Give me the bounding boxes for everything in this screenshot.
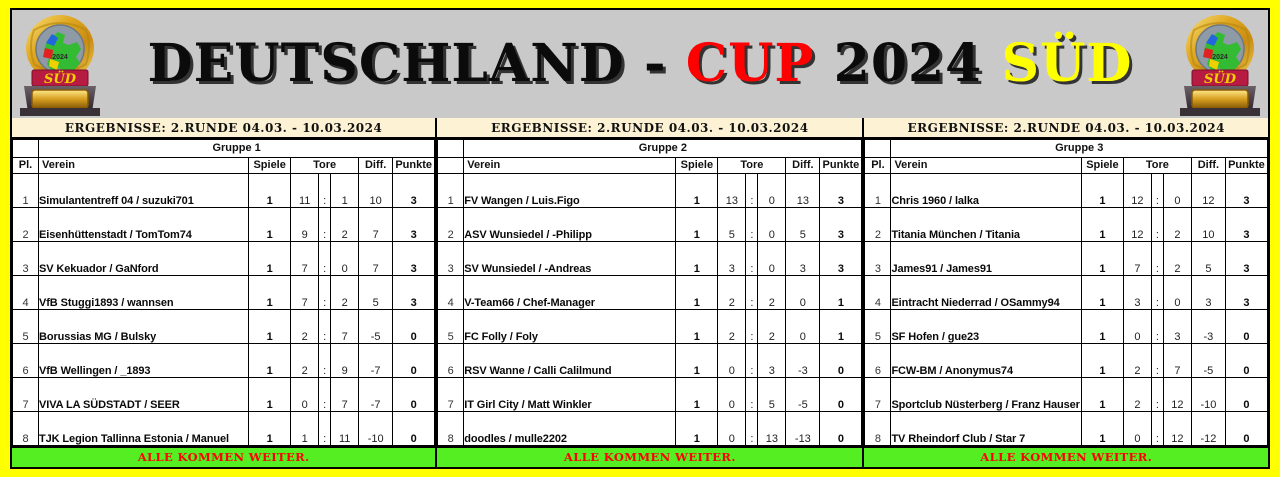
title-dash: - <box>644 33 667 94</box>
cell-goals-for: 2 <box>1123 377 1151 411</box>
cell-spiele: 1 <box>249 411 291 445</box>
cell-pl: 6 <box>865 343 891 377</box>
cell-team: SF Hofen / gue23 <box>891 309 1081 343</box>
header-diff-2: Diff. <box>786 157 820 173</box>
tournament-frame: 2024 SÜD DEUTSCHLAND - CUP 2024 SÜD <box>10 8 1270 469</box>
cell-pl: 5 <box>438 309 464 343</box>
cell-pl: 8 <box>865 411 891 445</box>
results-date-line-2: ERGEBNISSE: 2.RUNDE 04.03. - 10.03.2024 <box>437 118 862 139</box>
cell-goals-for: 12 <box>1123 207 1151 241</box>
cell-diff: 10 <box>359 173 393 207</box>
cell-spiele: 1 <box>249 377 291 411</box>
cell-punkte: 3 <box>1225 275 1267 309</box>
results-date-line-3: ERGEBNISSE: 2.RUNDE 04.03. - 10.03.2024 <box>864 118 1268 139</box>
cell-pl: 6 <box>13 343 39 377</box>
cell-score-separator: : <box>319 343 331 377</box>
group-title-spacer <box>13 140 39 158</box>
trophy-band-text: SÜD <box>44 70 77 87</box>
cell-pl: 6 <box>438 343 464 377</box>
cell-punkte: 0 <box>820 343 862 377</box>
trophy-icon-right: 2024 SÜD <box>1174 12 1266 116</box>
cell-pl: 7 <box>13 377 39 411</box>
cell-pl: 5 <box>865 309 891 343</box>
cell-goals-against: 2 <box>1163 207 1191 241</box>
group-column-2: ERGEBNISSE: 2.RUNDE 04.03. - 10.03.2024 … <box>437 118 864 467</box>
cell-score-separator: : <box>319 241 331 275</box>
cell-spiele: 1 <box>1081 241 1123 275</box>
cell-team: Eisenhüttenstadt / TomTom74 <box>39 207 249 241</box>
cell-team: ASV Wunsiedel / -Philipp <box>464 207 676 241</box>
cell-pl: 8 <box>13 411 39 445</box>
cell-diff: -12 <box>1191 411 1225 445</box>
cell-punkte: 0 <box>1225 377 1267 411</box>
table-row[interactable]: 8 TV Rheindorf Club / Star 7 1 0 : 12 -1… <box>865 411 1268 445</box>
table-row[interactable]: 8 TJK Legion Tallinna Estonia / Manuel 1… <box>13 411 435 445</box>
cell-spiele: 1 <box>1081 377 1123 411</box>
cell-score-separator: : <box>1151 275 1163 309</box>
trophy-icon-left: 2024 SÜD <box>14 12 106 116</box>
cell-score-separator: : <box>319 411 331 445</box>
cell-goals-for: 2 <box>291 309 319 343</box>
cell-team: VfB Wellingen / _1893 <box>39 343 249 377</box>
cell-punkte: 3 <box>393 173 435 207</box>
cell-goals-for: 3 <box>1123 275 1151 309</box>
cell-team: IT Girl City / Matt Winkler <box>464 377 676 411</box>
cell-goals-against: 3 <box>758 343 786 377</box>
cell-pl: 2 <box>438 207 464 241</box>
group-name-1: Gruppe 1 <box>39 140 435 158</box>
title-part-deutschland: DEUTSCHLAND <box>148 33 625 94</box>
cell-diff: -3 <box>786 343 820 377</box>
cell-punkte: 3 <box>820 207 862 241</box>
group-column-1: ERGEBNISSE: 2.RUNDE 04.03. - 10.03.2024 … <box>12 118 437 467</box>
cell-team: Simulantentreff 04 / suzuki701 <box>39 173 249 207</box>
cell-goals-against: 7 <box>1163 343 1191 377</box>
cell-goals-for: 2 <box>718 309 746 343</box>
cell-score-separator: : <box>746 173 758 207</box>
standings-table-2: Gruppe 2 Verein Spiele Tore Diff. Punkte… <box>437 139 862 446</box>
cell-team: VIVA LA SÜDSTADT / SEER <box>39 377 249 411</box>
cell-spiele: 1 <box>249 207 291 241</box>
header-pl-3: Pl. <box>865 157 891 173</box>
table-row[interactable]: 3 SV Kekuador / GaNford 1 7 : 0 7 3 <box>13 241 435 275</box>
cell-goals-for: 9 <box>291 207 319 241</box>
trophy-year-text: 2024 <box>52 54 68 61</box>
cell-score-separator: : <box>746 275 758 309</box>
group-name-2: Gruppe 2 <box>464 140 862 158</box>
table-row[interactable]: 7 IT Girl City / Matt Winkler 1 0 : 5 -5… <box>438 377 862 411</box>
table-row[interactable]: 4 V-Team66 / Chef-Manager 1 2 : 2 0 1 <box>438 275 862 309</box>
cell-diff: 5 <box>359 275 393 309</box>
cell-goals-against: 0 <box>758 173 786 207</box>
cell-goals-against: 0 <box>331 241 359 275</box>
cell-diff: -10 <box>359 411 393 445</box>
group-title-row: Gruppe 2 <box>438 140 862 158</box>
cell-team: RSV Wanne / Calli Calilmund <box>464 343 676 377</box>
cell-pl: 4 <box>13 275 39 309</box>
cell-punkte: 0 <box>820 377 862 411</box>
cell-goals-for: 1 <box>291 411 319 445</box>
table-row[interactable]: 7 VIVA LA SÜDSTADT / SEER 1 0 : 7 -7 0 <box>13 377 435 411</box>
cell-goals-against: 2 <box>758 309 786 343</box>
cell-score-separator: : <box>319 173 331 207</box>
cell-goals-for: 7 <box>291 275 319 309</box>
cell-punkte: 0 <box>820 411 862 445</box>
cell-spiele: 1 <box>676 309 718 343</box>
page-title: DEUTSCHLAND - CUP 2024 SÜD <box>148 38 1133 90</box>
group-title-row: Gruppe 1 <box>13 140 435 158</box>
cell-goals-against: 0 <box>1163 275 1191 309</box>
cell-punkte: 0 <box>393 309 435 343</box>
cell-punkte: 3 <box>1225 173 1267 207</box>
title-banner: 2024 SÜD DEUTSCHLAND - CUP 2024 SÜD <box>12 10 1268 118</box>
cell-goals-against: 11 <box>331 411 359 445</box>
cell-score-separator: : <box>319 207 331 241</box>
cell-goals-against: 2 <box>331 207 359 241</box>
cell-goals-for: 12 <box>1123 173 1151 207</box>
column-header-row: Pl. Verein Spiele Tore Diff. Punkte <box>865 157 1268 173</box>
cell-spiele: 1 <box>249 275 291 309</box>
group-title-row: Gruppe 3 <box>865 140 1268 158</box>
cell-goals-for: 2 <box>291 343 319 377</box>
cell-diff: 3 <box>786 241 820 275</box>
cell-pl: 2 <box>13 207 39 241</box>
group-footer-2: ALLE KOMMEN WEITER. <box>437 446 862 467</box>
cell-pl: 3 <box>865 241 891 275</box>
cell-spiele: 1 <box>676 343 718 377</box>
header-spiele-2: Spiele <box>676 157 718 173</box>
cell-spiele: 1 <box>249 241 291 275</box>
cell-punkte: 3 <box>1225 207 1267 241</box>
cell-diff: 5 <box>786 207 820 241</box>
cell-punkte: 0 <box>393 377 435 411</box>
cell-punkte: 0 <box>393 343 435 377</box>
cell-goals-for: 0 <box>291 377 319 411</box>
cell-punkte: 0 <box>393 411 435 445</box>
title-part-sued: SÜD <box>1001 33 1132 94</box>
cell-spiele: 1 <box>676 377 718 411</box>
cell-diff: -3 <box>1191 309 1225 343</box>
cell-score-separator: : <box>319 309 331 343</box>
cell-team: VfB Stuggi1893 / wannsen <box>39 275 249 309</box>
cell-score-separator: : <box>1151 377 1163 411</box>
page-root: 2024 SÜD DEUTSCHLAND - CUP 2024 SÜD <box>0 0 1280 477</box>
header-pl-2 <box>438 157 464 173</box>
cell-diff: 3 <box>1191 275 1225 309</box>
cell-spiele: 1 <box>1081 411 1123 445</box>
table-row[interactable]: 1 FV Wangen / Luis.Figo 1 13 : 0 13 3 <box>438 173 862 207</box>
cell-diff: 0 <box>786 309 820 343</box>
cell-diff: 5 <box>1191 241 1225 275</box>
table-row[interactable]: 4 VfB Stuggi1893 / wannsen 1 7 : 2 5 3 <box>13 275 435 309</box>
table-row[interactable]: 1 Chris 1960 / lalka 1 12 : 0 12 3 <box>865 173 1268 207</box>
table-row[interactable]: 5 SF Hofen / gue23 1 0 : 3 -3 0 <box>865 309 1268 343</box>
cell-goals-against: 1 <box>331 173 359 207</box>
table-row[interactable]: 5 Borussias MG / Bulsky 1 2 : 7 -5 0 <box>13 309 435 343</box>
cell-pl: 5 <box>13 309 39 343</box>
cell-pl: 7 <box>865 377 891 411</box>
cell-team: James91 / James91 <box>891 241 1081 275</box>
cell-score-separator: : <box>1151 309 1163 343</box>
cell-punkte: 3 <box>393 241 435 275</box>
cell-punkte: 0 <box>1225 343 1267 377</box>
cell-team: Borussias MG / Bulsky <box>39 309 249 343</box>
cell-punkte: 3 <box>393 207 435 241</box>
cell-pl: 3 <box>13 241 39 275</box>
trophy-year-text: 2024 <box>1212 54 1228 61</box>
cell-goals-for: 5 <box>718 207 746 241</box>
cell-goals-against: 2 <box>331 275 359 309</box>
cell-pl: 1 <box>865 173 891 207</box>
cell-spiele: 1 <box>676 207 718 241</box>
cell-goals-against: 2 <box>1163 241 1191 275</box>
group-title-spacer <box>865 140 891 158</box>
cell-pl: 2 <box>865 207 891 241</box>
table-row[interactable]: 5 FC Folly / Foly 1 2 : 2 0 1 <box>438 309 862 343</box>
cell-score-separator: : <box>746 377 758 411</box>
cell-team: Chris 1960 / lalka <box>891 173 1081 207</box>
cell-goals-against: 0 <box>1163 173 1191 207</box>
cell-goals-against: 9 <box>331 343 359 377</box>
header-tore-1: Tore <box>291 157 359 173</box>
cell-score-separator: : <box>1151 343 1163 377</box>
cell-spiele: 1 <box>676 241 718 275</box>
cell-pl: 4 <box>438 275 464 309</box>
cell-pl: 4 <box>865 275 891 309</box>
table-row[interactable]: 3 SV Wunsiedel / -Andreas 1 3 : 0 3 3 <box>438 241 862 275</box>
table-row[interactable]: 6 RSV Wanne / Calli Calilmund 1 0 : 3 -3… <box>438 343 862 377</box>
table-row[interactable]: 8 doodles / mulle2202 1 0 : 13 -13 0 <box>438 411 862 445</box>
cell-goals-against: 0 <box>758 207 786 241</box>
cell-score-separator: : <box>746 207 758 241</box>
cell-goals-for: 11 <box>291 173 319 207</box>
cell-punkte: 3 <box>1225 241 1267 275</box>
cell-goals-for: 0 <box>718 411 746 445</box>
cell-spiele: 1 <box>249 343 291 377</box>
header-tore-3: Tore <box>1123 157 1191 173</box>
results-date-line-1: ERGEBNISSE: 2.RUNDE 04.03. - 10.03.2024 <box>12 118 435 139</box>
cell-punkte: 3 <box>820 241 862 275</box>
cell-score-separator: : <box>1151 241 1163 275</box>
cell-punkte: 0 <box>1225 309 1267 343</box>
cell-goals-against: 12 <box>1163 411 1191 445</box>
cell-team: Eintracht Niederrad / OSammy94 <box>891 275 1081 309</box>
header-diff-3: Diff. <box>1191 157 1225 173</box>
header-punkte-3: Punkte <box>1225 157 1267 173</box>
groups-container: ERGEBNISSE: 2.RUNDE 04.03. - 10.03.2024 … <box>12 118 1268 467</box>
cell-diff: -7 <box>359 377 393 411</box>
group-footer-1: ALLE KOMMEN WEITER. <box>12 446 435 467</box>
header-tore-2: Tore <box>718 157 786 173</box>
group-column-3: ERGEBNISSE: 2.RUNDE 04.03. - 10.03.2024 … <box>864 118 1268 467</box>
table-row[interactable]: 6 FCW-BM / Anonymus74 1 2 : 7 -5 0 <box>865 343 1268 377</box>
cell-goals-for: 13 <box>718 173 746 207</box>
table-row[interactable]: 2 Titania München / Titania 1 12 : 2 10 … <box>865 207 1268 241</box>
header-diff-1: Diff. <box>359 157 393 173</box>
cell-spiele: 1 <box>1081 275 1123 309</box>
cell-score-separator: : <box>746 343 758 377</box>
header-punkte-1: Punkte <box>393 157 435 173</box>
cell-team: SV Wunsiedel / -Andreas <box>464 241 676 275</box>
cell-score-separator: : <box>319 275 331 309</box>
cell-goals-against: 7 <box>331 377 359 411</box>
header-punkte-2: Punkte <box>820 157 862 173</box>
cell-diff: 7 <box>359 207 393 241</box>
standings-table-1: Gruppe 1 Pl. Verein Spiele Tore Diff. Pu… <box>12 139 435 446</box>
column-header-row: Verein Spiele Tore Diff. Punkte <box>438 157 862 173</box>
cell-spiele: 1 <box>676 173 718 207</box>
cell-team: TV Rheindorf Club / Star 7 <box>891 411 1081 445</box>
cell-score-separator: : <box>1151 173 1163 207</box>
cell-goals-for: 0 <box>718 343 746 377</box>
cell-goals-for: 2 <box>1123 343 1151 377</box>
cell-diff: -7 <box>359 343 393 377</box>
cell-goals-for: 2 <box>718 275 746 309</box>
table-row[interactable]: 2 Eisenhüttenstadt / TomTom74 1 9 : 2 7 … <box>13 207 435 241</box>
standings-table-3: Gruppe 3 Pl. Verein Spiele Tore Diff. Pu… <box>864 139 1268 446</box>
cell-punkte: 1 <box>820 275 862 309</box>
cell-goals-for: 7 <box>1123 241 1151 275</box>
cell-goals-for: 0 <box>718 377 746 411</box>
cell-spiele: 1 <box>676 411 718 445</box>
header-pl-1: Pl. <box>13 157 39 173</box>
column-header-row: Pl. Verein Spiele Tore Diff. Punkte <box>13 157 435 173</box>
cell-diff: 10 <box>1191 207 1225 241</box>
cell-spiele: 1 <box>249 173 291 207</box>
cell-team: FC Folly / Foly <box>464 309 676 343</box>
cell-punkte: 3 <box>393 275 435 309</box>
cell-goals-against: 13 <box>758 411 786 445</box>
cell-team: TJK Legion Tallinna Estonia / Manuel <box>39 411 249 445</box>
title-part-cup: CUP <box>686 33 815 94</box>
cell-diff: 12 <box>1191 173 1225 207</box>
cell-goals-for: 7 <box>291 241 319 275</box>
cell-score-separator: : <box>746 309 758 343</box>
table-row[interactable]: 1 Simulantentreff 04 / suzuki701 1 11 : … <box>13 173 435 207</box>
cell-diff: 0 <box>786 275 820 309</box>
cell-punkte: 0 <box>1225 411 1267 445</box>
header-verein-1: Verein <box>39 157 249 173</box>
cell-spiele: 1 <box>1081 173 1123 207</box>
cell-spiele: 1 <box>1081 343 1123 377</box>
cell-goals-against: 5 <box>758 377 786 411</box>
cell-diff: -5 <box>786 377 820 411</box>
cell-pl: 3 <box>438 241 464 275</box>
cell-team: FV Wangen / Luis.Figo <box>464 173 676 207</box>
table-row[interactable]: 2 ASV Wunsiedel / -Philipp 1 5 : 0 5 3 <box>438 207 862 241</box>
group-title-spacer <box>438 140 464 158</box>
cell-diff: -13 <box>786 411 820 445</box>
cell-diff: 13 <box>786 173 820 207</box>
table-row[interactable]: 3 James91 / James91 1 7 : 2 5 3 <box>865 241 1268 275</box>
cell-pl: 8 <box>438 411 464 445</box>
cell-team: Titania München / Titania <box>891 207 1081 241</box>
cell-team: doodles / mulle2202 <box>464 411 676 445</box>
header-verein-2: Verein <box>464 157 676 173</box>
cell-goals-against: 0 <box>758 241 786 275</box>
cell-team: SV Kekuador / GaNford <box>39 241 249 275</box>
cell-pl: 7 <box>438 377 464 411</box>
header-spiele-1: Spiele <box>249 157 291 173</box>
cell-goals-against: 7 <box>331 309 359 343</box>
cell-spiele: 1 <box>676 275 718 309</box>
cell-diff: -10 <box>1191 377 1225 411</box>
cell-diff: 7 <box>359 241 393 275</box>
cell-goals-for: 3 <box>718 241 746 275</box>
cell-pl: 1 <box>438 173 464 207</box>
cell-goals-against: 12 <box>1163 377 1191 411</box>
cell-goals-against: 2 <box>758 275 786 309</box>
cell-goals-against: 3 <box>1163 309 1191 343</box>
cell-goals-for: 0 <box>1123 309 1151 343</box>
cell-team: FCW-BM / Anonymus74 <box>891 343 1081 377</box>
cell-diff: -5 <box>359 309 393 343</box>
cell-spiele: 1 <box>1081 309 1123 343</box>
cell-score-separator: : <box>1151 411 1163 445</box>
table-row[interactable]: 6 VfB Wellingen / _1893 1 2 : 9 -7 0 <box>13 343 435 377</box>
cell-score-separator: : <box>746 241 758 275</box>
cell-goals-for: 0 <box>1123 411 1151 445</box>
cell-pl: 1 <box>13 173 39 207</box>
header-spiele-3: Spiele <box>1081 157 1123 173</box>
header-verein-3: Verein <box>891 157 1081 173</box>
cell-punkte: 1 <box>820 309 862 343</box>
cell-team: V-Team66 / Chef-Manager <box>464 275 676 309</box>
trophy-band-text: SÜD <box>1204 70 1237 87</box>
cell-score-separator: : <box>1151 207 1163 241</box>
cell-diff: -5 <box>1191 343 1225 377</box>
group-footer-3: ALLE KOMMEN WEITER. <box>864 446 1268 467</box>
cell-team: Sportclub Nüsterberg / Franz Hauser <box>891 377 1081 411</box>
table-row[interactable]: 4 Eintracht Niederrad / OSammy94 1 3 : 0… <box>865 275 1268 309</box>
cell-score-separator: : <box>746 411 758 445</box>
cell-punkte: 3 <box>820 173 862 207</box>
title-part-year: 2024 <box>834 33 983 94</box>
cell-score-separator: : <box>319 377 331 411</box>
cell-spiele: 1 <box>1081 207 1123 241</box>
table-row[interactable]: 7 Sportclub Nüsterberg / Franz Hauser 1 … <box>865 377 1268 411</box>
cell-spiele: 1 <box>249 309 291 343</box>
group-name-3: Gruppe 3 <box>891 140 1268 158</box>
